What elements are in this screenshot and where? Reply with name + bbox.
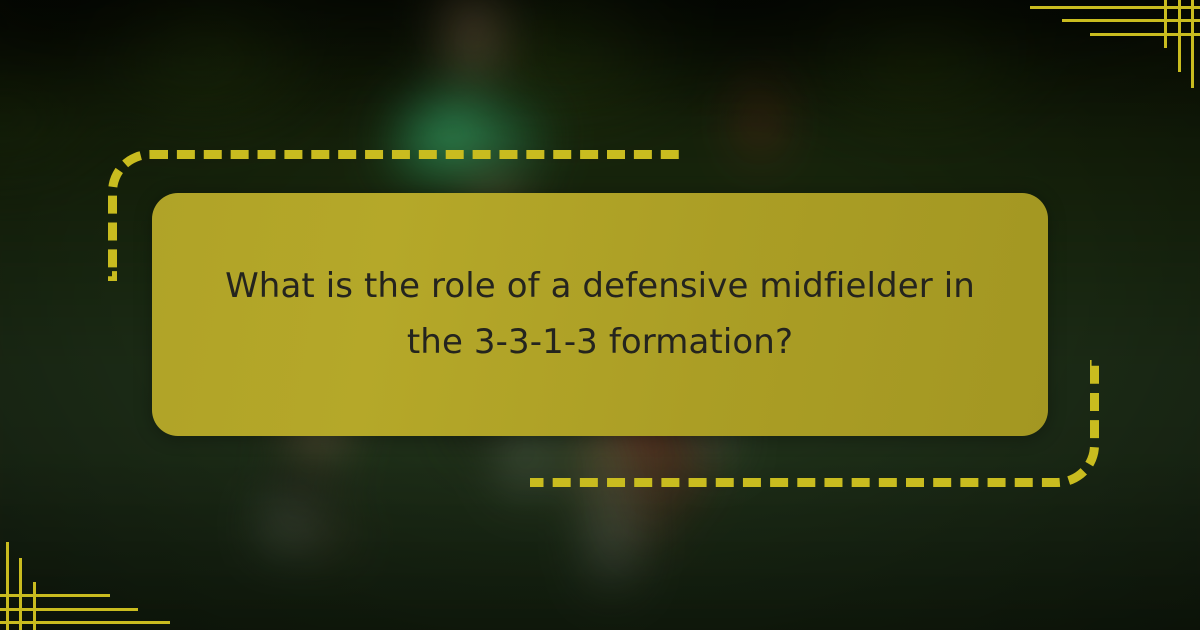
social-card-canvas: What is the role of a defensive midfield…: [0, 0, 1200, 630]
deco-corner-top-right: [1030, 0, 1200, 90]
deco-corner-bottom-left: [0, 540, 170, 630]
deco-rule-h-inner: [0, 594, 110, 597]
deco-rule-v-outer: [6, 542, 9, 630]
question-title: What is the role of a defensive midfield…: [220, 259, 980, 369]
deco-rule-h-outer: [0, 621, 170, 624]
deco-rule-v-inner: [33, 582, 36, 630]
deco-rule-v-middle: [1178, 0, 1181, 72]
deco-rule-h-outer: [1030, 6, 1200, 9]
deco-rule-v-middle: [19, 558, 22, 630]
deco-rule-h-inner: [1090, 33, 1200, 36]
question-card: What is the role of a defensive midfield…: [152, 193, 1048, 436]
deco-rule-v-outer: [1191, 0, 1194, 88]
deco-rule-v-inner: [1164, 0, 1167, 48]
